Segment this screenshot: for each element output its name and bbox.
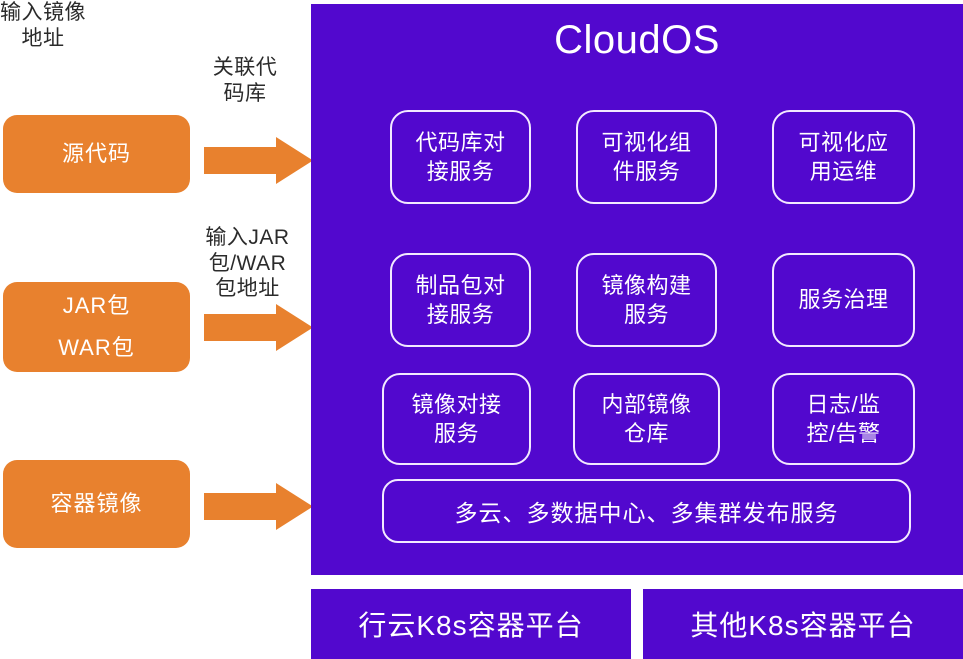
platform-bar-other-k8s[interactable]: 其他K8s容器平台 [643,589,963,659]
arrow-label-source-code: 关联代 码库 [190,55,300,106]
input-block-label: 源代码 [62,138,131,170]
service-box-internal-registry[interactable]: 内部镜像 仓库 [573,373,720,465]
platform-bar-xingyun-k8s[interactable]: 行云K8s容器平台 [311,589,631,659]
page-title: CloudOS [311,18,963,63]
arrow-label-jar-war: 输入JAR 包/WAR 包地址 [190,225,305,302]
service-box-image-build[interactable]: 镜像构建 服务 [576,253,717,347]
service-box-service-governance[interactable]: 服务治理 [772,253,915,347]
input-block-label-jar: JAR包 [63,285,131,327]
right-arrow-icon-jar-war [204,304,313,351]
input-block-container-image[interactable]: 容器镜像 [3,460,190,548]
diagram-canvas: 源代码 JAR包 WAR包 容器镜像 关联代 码库 输入JAR 包/WAR 包地… [0,0,963,659]
input-block-source-code[interactable]: 源代码 [3,115,190,193]
input-block-label-war: WAR包 [58,327,135,369]
right-arrow-icon-container-image [204,483,313,530]
input-block-label: 容器镜像 [50,488,142,520]
service-box-log-monitor-alert[interactable]: 日志/监 控/告警 [772,373,915,465]
service-box-visual-component[interactable]: 可视化组 件服务 [576,110,717,204]
service-box-visual-app-ops[interactable]: 可视化应 用运维 [772,110,915,204]
service-box-image-integration[interactable]: 镜像对接 服务 [382,373,531,465]
arrow-label-container-image: 输入镜像 地址 [0,0,86,51]
service-box-artifact-integration[interactable]: 制品包对 接服务 [390,253,531,347]
input-block-jar-war[interactable]: JAR包 WAR包 [3,282,190,372]
service-box-multicloud-release[interactable]: 多云、多数据中心、多集群发布服务 [382,479,911,543]
cloudos-panel: CloudOS 代码库对 接服务 可视化组 件服务 可视化应 用运维 制品包对 … [311,4,963,575]
right-arrow-icon-source-code [204,137,313,184]
service-box-code-repo-integration[interactable]: 代码库对 接服务 [390,110,531,204]
